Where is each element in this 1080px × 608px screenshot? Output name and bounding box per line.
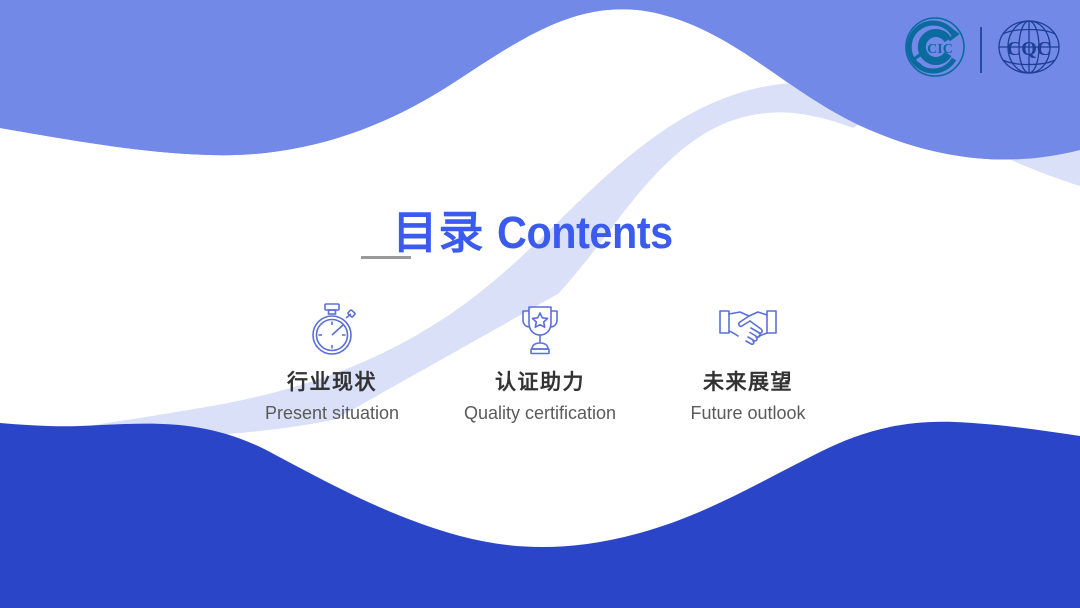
- handshake-icon: [644, 300, 852, 358]
- cqc-logo-icon: CQC: [996, 18, 1062, 76]
- contents-item-label-cn: 行业现状: [228, 370, 436, 396]
- contents-item-quality-certification[interactable]: 认证助力 Quality certification: [436, 300, 644, 424]
- contents-item-present-situation[interactable]: 行业现状 Present situation: [228, 300, 436, 424]
- page-title-cn: 目录: [392, 207, 484, 258]
- contents-item-label-en: Present situation: [228, 402, 436, 424]
- logo-bar: CIC CQC: [904, 16, 1062, 83]
- cqc-logo: CQC: [996, 18, 1062, 81]
- wave-bottom-blue: [0, 422, 1080, 608]
- trophy-icon: [436, 300, 644, 358]
- stopwatch-icon: [228, 300, 436, 358]
- page-title-en: Contents: [497, 207, 673, 259]
- cic-logo: CIC: [904, 16, 966, 83]
- cic-logo-icon: CIC: [904, 16, 966, 78]
- page-title: 目录Contents: [0, 196, 1080, 261]
- contents-list: 行业现状 Present situation 认证助力: [0, 300, 1080, 424]
- cic-logo-text: CIC: [927, 42, 953, 57]
- contents-item-label-cn: 未来展望: [644, 370, 852, 396]
- contents-item-future-outlook[interactable]: 未来展望 Future outlook: [644, 300, 852, 424]
- contents-item-label-cn: 认证助力: [436, 370, 644, 396]
- contents-item-label-en: Future outlook: [644, 402, 852, 424]
- presentation-slide: CIC CQC 目录Contents: [0, 0, 1080, 608]
- cqc-logo-text: CQC: [1007, 38, 1051, 60]
- contents-item-label-en: Quality certification: [436, 402, 644, 424]
- logo-divider: [980, 27, 982, 73]
- page-title-line: 目录Contents: [392, 196, 687, 261]
- title-underline: [361, 256, 411, 259]
